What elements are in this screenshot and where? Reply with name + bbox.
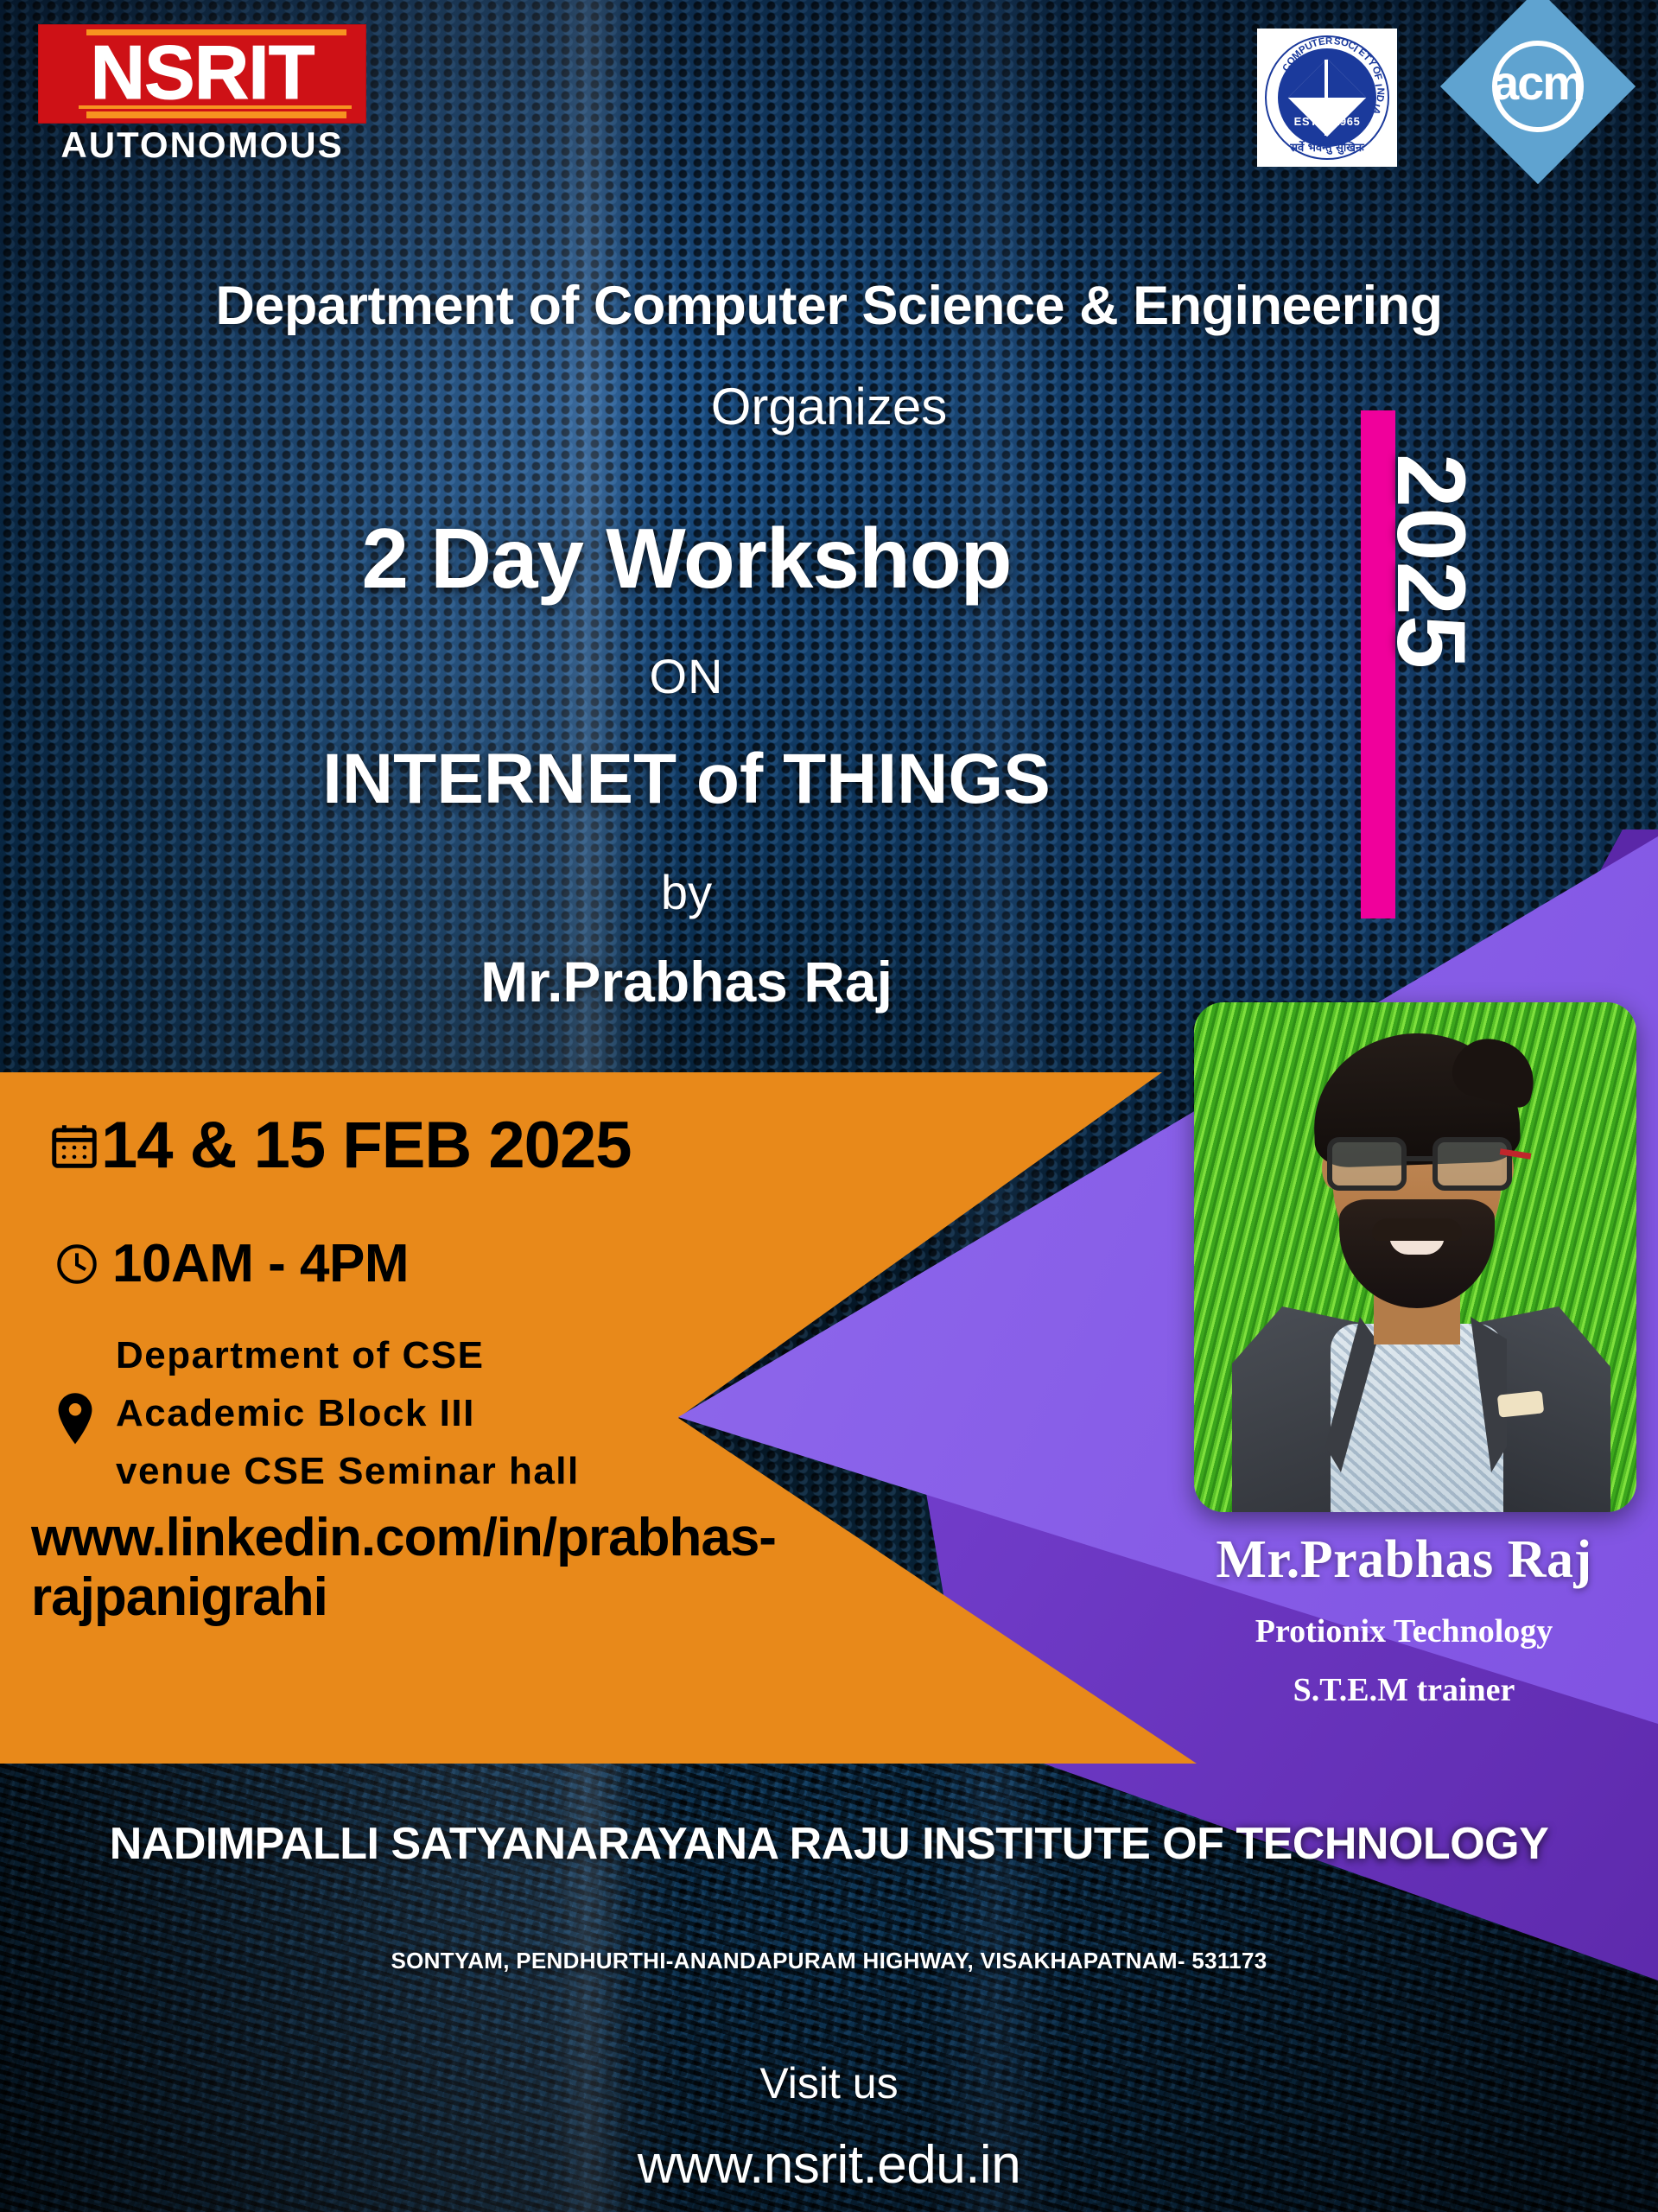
speaker-name: Mr.Prabhas Raj	[1149, 1529, 1658, 1591]
event-speaker-name: Mr.Prabhas Raj	[0, 949, 1373, 1014]
lens-left	[1327, 1137, 1407, 1191]
event-poster: NSRIT AUTONOMOUS COMPUTERSOCIETYOFINDIA …	[0, 0, 1658, 2212]
logo-rule-bottom-thick	[86, 111, 346, 118]
mustache	[1372, 1218, 1462, 1241]
event-time: 10AM - 4PM	[112, 1233, 409, 1294]
acm-logo-text: acm	[1469, 59, 1607, 107]
map-pin-icon	[54, 1392, 97, 1450]
nsrit-logo-box: NSRIT	[38, 24, 366, 124]
venue-line-3: venue CSE Seminar hall	[116, 1450, 864, 1493]
venue-line-1: Department of CSE	[116, 1334, 864, 1377]
time-row: 10AM - 4PM	[54, 1233, 864, 1294]
event-details-block: 14 & 15 FEB 2025 10AM - 4PM Department o…	[0, 1072, 864, 1628]
pocket-square	[1497, 1390, 1544, 1417]
csi-motto-text: सर्वे भवन्तु सुखिनः	[1257, 139, 1397, 155]
event-subject: INTERNET of THINGS	[0, 739, 1373, 820]
csi-established-text: ESTD. 1965	[1257, 115, 1397, 128]
department-title: Department of Computer Science & Enginee…	[0, 275, 1658, 337]
institute-address: SONTYAM, PENDHURTHI-ANANDAPURAM HIGHWAY,…	[0, 1948, 1658, 1974]
speaker-photo	[1194, 1002, 1636, 1512]
organizes-label: Organizes	[0, 377, 1658, 436]
nsrit-logo-subtext: AUTONOMOUS	[38, 127, 366, 163]
nsrit-logo: NSRIT AUTONOMOUS	[38, 24, 366, 163]
calendar-icon	[48, 1119, 101, 1173]
nsrit-logo-text: NSRIT	[54, 37, 350, 109]
linkedin-url[interactable]: www.linkedin.com/in/prabhas-rajpanigrahi	[31, 1508, 904, 1628]
event-by-label: by	[0, 864, 1373, 920]
venue-line-2: Academic Block III	[116, 1392, 864, 1435]
speaker-organization: Protionix Technology	[1149, 1612, 1658, 1650]
logo-rule-top	[86, 29, 346, 35]
institute-website[interactable]: www.nsrit.edu.in	[0, 2134, 1658, 2196]
speaker-role: S.T.E.M trainer	[1149, 1671, 1658, 1709]
institute-full-name: NADIMPALLI SATYANARAYANA RAJU INSTITUTE …	[0, 1818, 1658, 1870]
acm-logo: acm	[1469, 17, 1607, 156]
year-text: 2025	[1379, 454, 1483, 903]
venue-block: Department of CSE Academic Block III ven…	[54, 1334, 864, 1493]
lens-right	[1432, 1137, 1512, 1191]
csi-logo: COMPUTERSOCIETYOFINDIA ESTD. 1965 सर्वे …	[1257, 29, 1397, 167]
clock-icon	[54, 1241, 100, 1287]
event-title: 2 Day Workshop	[0, 510, 1373, 607]
event-on-label: ON	[0, 648, 1373, 704]
logo-rule-bottom-thin	[79, 105, 352, 109]
visit-us-label: Visit us	[0, 2058, 1658, 2108]
date-row: 14 & 15 FEB 2025	[48, 1108, 864, 1183]
glasses-bridge	[1407, 1156, 1434, 1161]
eyeglasses-icon	[1324, 1137, 1515, 1191]
event-date: 14 & 15 FEB 2025	[101, 1108, 632, 1183]
